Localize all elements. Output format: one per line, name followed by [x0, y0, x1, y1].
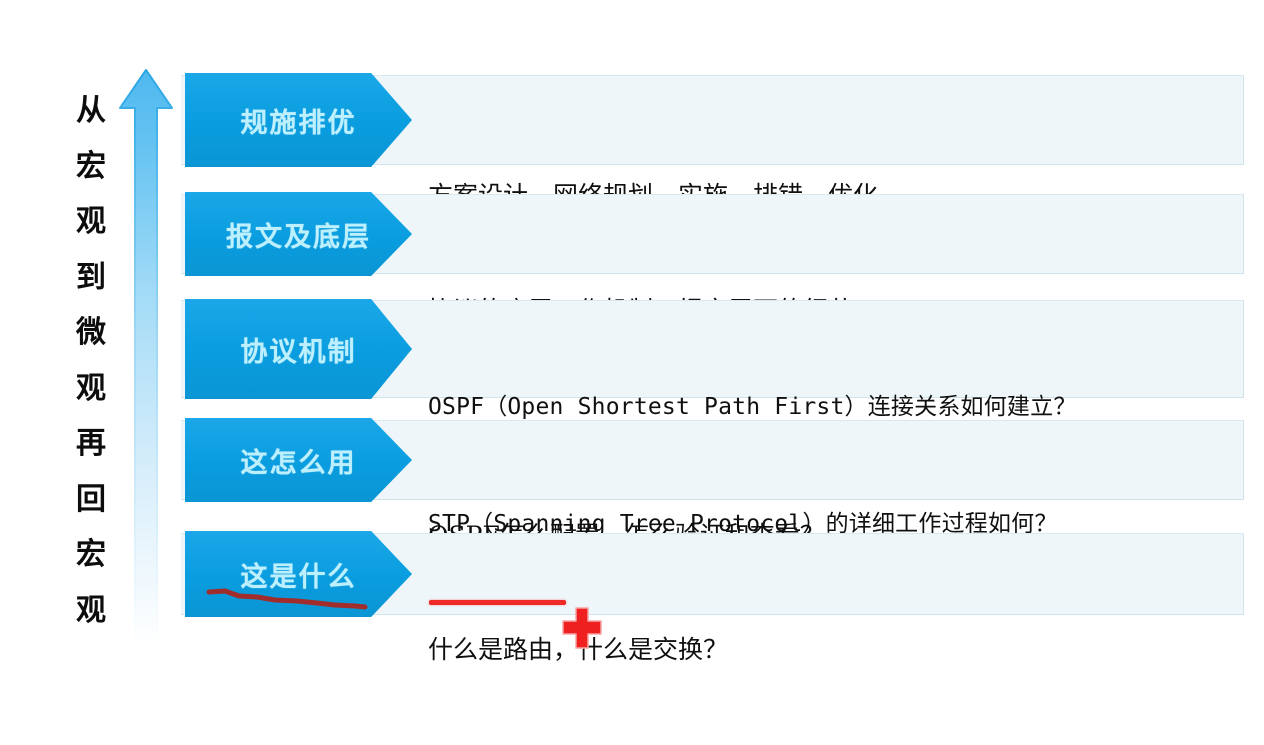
stage-description-line: 什么是路由，什么是交换？ [428, 631, 1233, 669]
vertical-caption-char: 从 [64, 96, 118, 126]
vertical-caption-char: 微 [64, 318, 118, 348]
stage-banner[interactable]: 规施排优 [185, 73, 412, 167]
stage-row[interactable]: 这是什么 什么是路由，什么是交换？ [181, 533, 1244, 615]
stage-row[interactable]: 这怎么用 OSPF怎么配置，怎么验证和查看？ [181, 420, 1244, 500]
stage-banner-label: 协议机制 [241, 330, 357, 369]
stage-banner-label: 报文及底层 [226, 215, 371, 254]
vertical-caption-char: 观 [64, 374, 118, 404]
vertical-caption-char: 到 [64, 263, 118, 293]
stage-banner[interactable]: 报文及底层 [185, 192, 412, 276]
vertical-caption-char: 观 [64, 596, 118, 626]
stage-banner-label: 这怎么用 [241, 441, 357, 480]
stage-row[interactable]: 报文及底层 协议的底层工作机制、报文层面的细节。 [181, 194, 1244, 274]
vertical-caption: 从 宏 观 到 微 观 再 回 宏 观 [64, 96, 118, 626]
vertical-caption-char: 宏 [64, 540, 118, 570]
vertical-caption-char: 回 [64, 485, 118, 515]
stage-banner[interactable]: 这是什么 [185, 531, 412, 617]
vertical-caption-char: 观 [64, 207, 118, 237]
stage-banner-label: 这是什么 [241, 555, 357, 594]
stage-banner[interactable]: 这怎么用 [185, 418, 412, 502]
straight-underline-annotation [429, 600, 566, 605]
stage-row[interactable]: 规施排优 方案设计、网络规划、实施、排错、优化。 [181, 75, 1244, 165]
stage-banner[interactable]: 协议机制 [185, 299, 412, 399]
vertical-caption-char: 宏 [64, 152, 118, 182]
stage-description: 什么是路由，什么是交换？ [428, 555, 1233, 745]
up-arrow-icon [118, 68, 174, 646]
slide-canvas: 从 宏 观 到 微 观 再 回 宏 观 [0, 0, 1264, 649]
stage-row[interactable]: 协议机制 OSPF（Open Shortest Path First）连接关系如… [181, 300, 1244, 398]
vertical-caption-char: 再 [64, 429, 118, 459]
stage-banner-label: 规施排优 [241, 101, 357, 140]
